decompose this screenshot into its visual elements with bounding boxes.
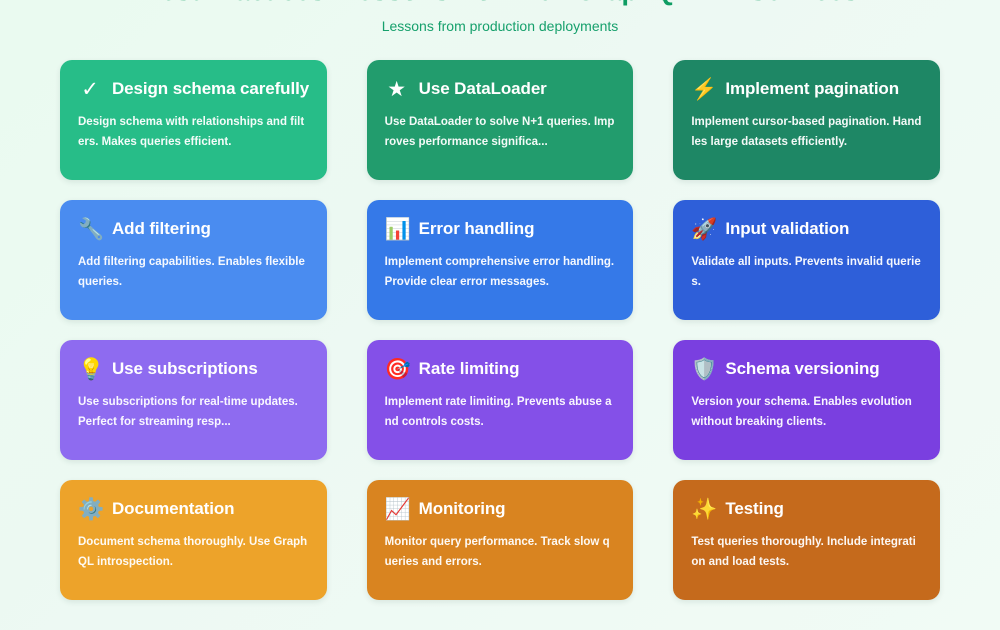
card-header: 🛡️ Schema versioning <box>691 356 922 382</box>
page-subtitle: Lessons from production deployments <box>60 8 940 35</box>
practice-card[interactable]: 🎯 Rate limiting Implement rate limiting.… <box>367 340 634 460</box>
card-title: Input validation <box>725 218 849 240</box>
light-bulb-icon: 💡 <box>78 359 102 380</box>
best-practices-card-grid: ✓ Design schema carefully Design schema … <box>60 60 940 600</box>
card-description: Design schema with relationships and fil… <box>78 112 309 152</box>
wrench-icon: 🔧 <box>78 219 102 240</box>
card-header: 🎯 Rate limiting <box>385 356 616 382</box>
practice-card[interactable]: ⚙️ Documentation Document schema thoroug… <box>60 480 327 600</box>
card-title: Use subscriptions <box>112 358 258 380</box>
card-description: Test queries thoroughly. Include integra… <box>691 532 922 572</box>
card-header: 🚀 Input validation <box>691 216 922 242</box>
practice-card[interactable]: ★ Use DataLoader Use DataLoader to solve… <box>367 60 634 180</box>
card-description: Use subscriptions for real-time updates.… <box>78 392 309 432</box>
card-header: ✨ Testing <box>691 496 922 522</box>
card-title: Use DataLoader <box>419 78 547 100</box>
card-description: Validate all inputs. Prevents invalid qu… <box>691 252 922 292</box>
card-description: Implement rate limiting. Prevents abuse … <box>385 392 616 432</box>
card-description: Implement comprehensive error handling. … <box>385 252 616 292</box>
card-header: ★ Use DataLoader <box>385 76 616 102</box>
practice-card[interactable]: 🚀 Input validation Validate all inputs. … <box>673 200 940 320</box>
card-title: Testing <box>725 498 784 520</box>
page-title: Best Practices: Lessons from 10+ GraphQL… <box>60 0 940 8</box>
card-header: 🔧 Add filtering <box>78 216 309 242</box>
card-description: Monitor query performance. Track slow qu… <box>385 532 616 572</box>
gear-icon: ⚙️ <box>78 499 102 520</box>
card-title: Error handling <box>419 218 535 240</box>
practice-card[interactable]: ✓ Design schema carefully Design schema … <box>60 60 327 180</box>
page-container: Best Practices: Lessons from 10+ GraphQL… <box>0 0 1000 604</box>
chart-increasing-icon: 📈 <box>385 499 409 520</box>
card-description: Use DataLoader to solve N+1 queries. Imp… <box>385 112 616 152</box>
card-title: Add filtering <box>112 218 211 240</box>
card-title: Implement pagination <box>725 78 899 100</box>
check-mark-icon: ✓ <box>78 79 102 100</box>
sparkles-icon: ✨ <box>691 499 715 520</box>
card-title: Rate limiting <box>419 358 520 380</box>
practice-card[interactable]: ✨ Testing Test queries thoroughly. Inclu… <box>673 480 940 600</box>
card-title: Monitoring <box>419 498 506 520</box>
card-title: Design schema carefully <box>112 78 309 100</box>
rocket-icon: 🚀 <box>691 219 715 240</box>
card-title: Schema versioning <box>725 358 879 380</box>
card-description: Document schema thoroughly. Use GraphQL … <box>78 532 309 572</box>
card-header: 📊 Error handling <box>385 216 616 242</box>
card-header: 💡 Use subscriptions <box>78 356 309 382</box>
card-description: Version your schema. Enables evolution w… <box>691 392 922 432</box>
practice-card[interactable]: 📈 Monitoring Monitor query performance. … <box>367 480 634 600</box>
practice-card[interactable]: 📊 Error handling Implement comprehensive… <box>367 200 634 320</box>
dart-target-icon: 🎯 <box>385 359 409 380</box>
shield-icon: 🛡️ <box>691 359 715 380</box>
practice-card[interactable]: 🔧 Add filtering Add filtering capabiliti… <box>60 200 327 320</box>
card-title: Documentation <box>112 498 234 520</box>
card-header: ⚙️ Documentation <box>78 496 309 522</box>
practice-card[interactable]: 💡 Use subscriptions Use subscriptions fo… <box>60 340 327 460</box>
card-header: ⚡ Implement pagination <box>691 76 922 102</box>
card-header: 📈 Monitoring <box>385 496 616 522</box>
practice-card[interactable]: ⚡ Implement pagination Implement cursor-… <box>673 60 940 180</box>
card-header: ✓ Design schema carefully <box>78 76 309 102</box>
bar-chart-icon: 📊 <box>385 219 409 240</box>
practice-card[interactable]: 🛡️ Schema versioning Version your schema… <box>673 340 940 460</box>
star-icon: ★ <box>385 79 409 100</box>
card-description: Implement cursor-based pagination. Handl… <box>691 112 922 152</box>
lightning-bolt-icon: ⚡ <box>691 79 715 100</box>
card-description: Add filtering capabilities. Enables flex… <box>78 252 309 292</box>
